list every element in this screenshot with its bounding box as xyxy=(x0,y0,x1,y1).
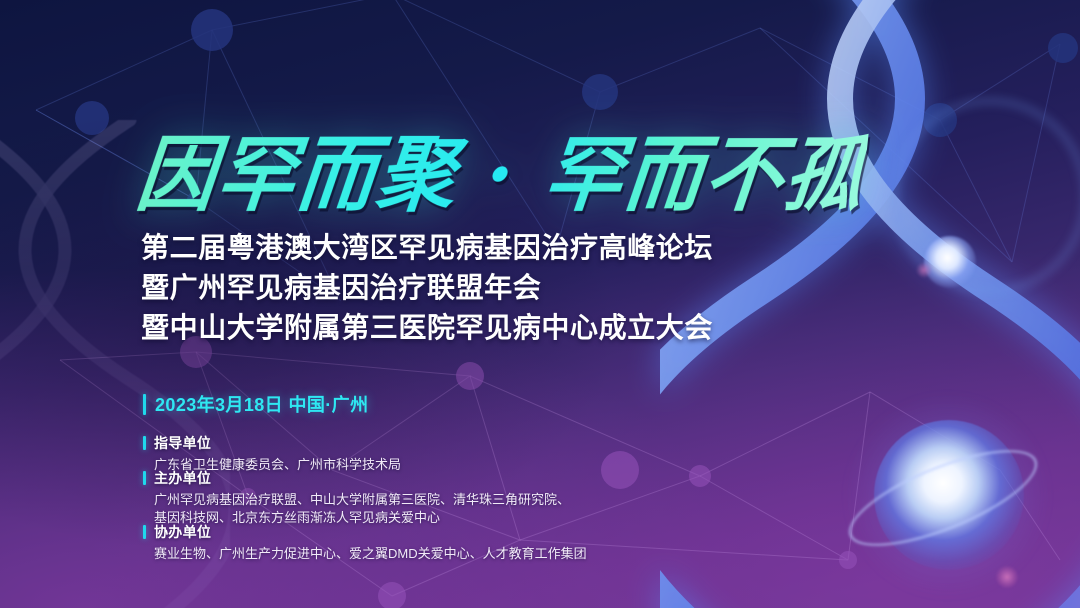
organizer-label: 主办单位 xyxy=(154,468,211,488)
organizer-block-host: 主办单位 广州罕见病基因治疗联盟、中山大学附属第三医院、清华珠三角研究院、 基因… xyxy=(143,468,570,527)
accent-bar-icon xyxy=(143,436,146,450)
organizer-heading: 主办单位 xyxy=(143,468,570,488)
conference-poster: 因罕而聚 · 罕而不孤 第二届粤港澳大湾区罕见病基因治疗高峰论坛 暨广州罕见病基… xyxy=(0,0,1080,608)
subtitle-line-2: 暨广州罕见病基因治疗联盟年会 xyxy=(141,266,541,306)
organizer-name-line: 赛业生物、广州生产力促进中心、爱之翼DMD关爱中心、人才教育工作集团 xyxy=(154,545,587,563)
subtitle-line-1: 第二届粤港澳大湾区罕见病基因治疗高峰论坛 xyxy=(141,226,713,266)
poster-content: 因罕而聚 · 罕而不孤 第二届粤港澳大湾区罕见病基因治疗高峰论坛 暨广州罕见病基… xyxy=(0,0,1080,608)
accent-bar-icon xyxy=(143,394,146,415)
organizer-heading: 指导单位 xyxy=(143,433,401,453)
accent-bar-icon xyxy=(143,471,146,485)
page-title: 因罕而聚 · 罕而不孤 xyxy=(132,109,872,228)
organizer-heading: 协办单位 xyxy=(143,522,587,542)
date-location-text: 2023年3月18日 中国·广州 xyxy=(155,391,368,417)
organizer-label: 指导单位 xyxy=(154,433,211,453)
date-location: 2023年3月18日 中国·广州 xyxy=(143,391,368,417)
organizer-block-coorganizer: 协办单位 赛业生物、广州生产力促进中心、爱之翼DMD关爱中心、人才教育工作集团 xyxy=(143,522,587,563)
organizer-name-line: 广州罕见病基因治疗联盟、中山大学附属第三医院、清华珠三角研究院、 xyxy=(154,491,570,509)
accent-bar-icon xyxy=(143,525,146,539)
subtitle-line-3: 暨中山大学附属第三医院罕见病中心成立大会 xyxy=(141,306,713,346)
organizer-label: 协办单位 xyxy=(154,522,211,542)
organizer-names: 赛业生物、广州生产力促进中心、爱之翼DMD关爱中心、人才教育工作集团 xyxy=(154,545,587,563)
